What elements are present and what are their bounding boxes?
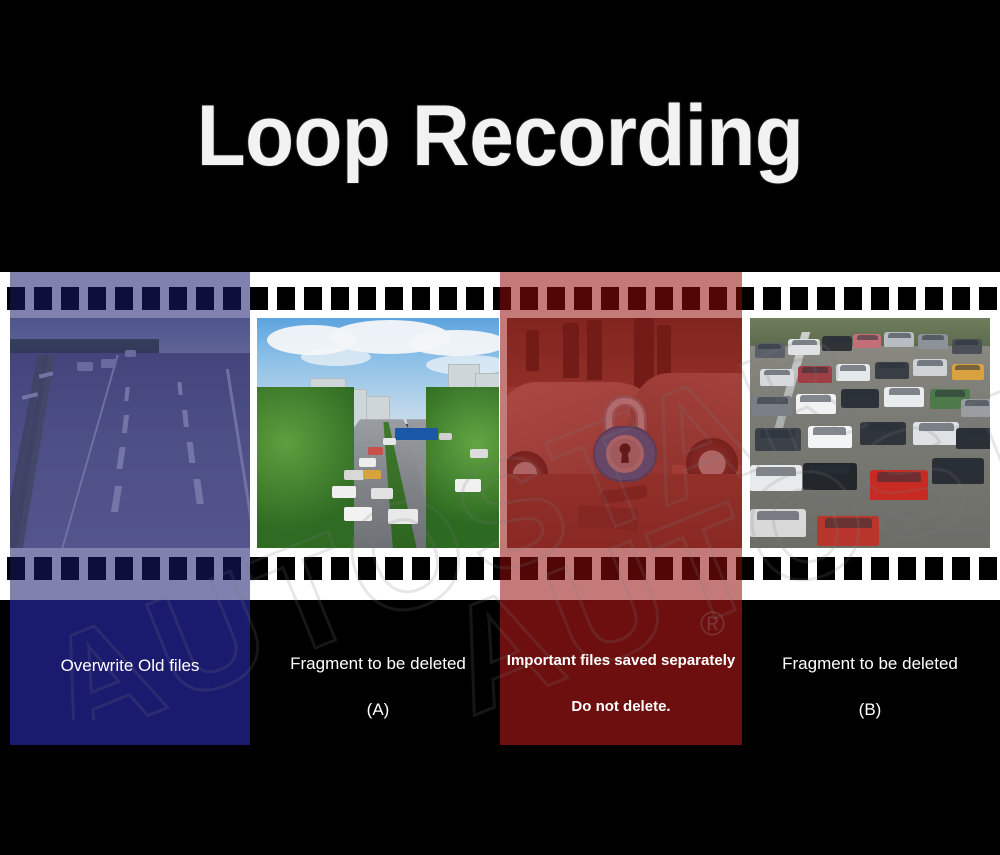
perforation — [466, 557, 484, 580]
car — [344, 470, 364, 480]
frame-city-highway — [257, 318, 499, 548]
page-title: Loop Recording — [35, 88, 965, 184]
perforation — [358, 287, 376, 310]
perforation — [304, 557, 322, 580]
car-taxi — [750, 509, 806, 537]
car — [750, 465, 802, 491]
caption-important: Important files saved separately Do not … — [500, 650, 742, 718]
car — [913, 359, 947, 376]
car — [952, 364, 984, 380]
caption-line-2: (A) — [257, 699, 499, 721]
perforation — [439, 557, 457, 580]
perforation — [466, 287, 484, 310]
perforation — [979, 287, 997, 310]
caption-fragment-a: Fragment to be deleted (A) — [257, 653, 499, 721]
perforation — [412, 557, 430, 580]
perforation — [277, 287, 295, 310]
frame-traffic-jam — [750, 318, 990, 548]
car — [755, 428, 801, 451]
perforation — [844, 287, 862, 310]
car — [752, 396, 792, 416]
perforation — [358, 557, 376, 580]
perforation — [763, 557, 781, 580]
perforation — [277, 557, 295, 580]
perforation — [250, 557, 268, 580]
perforation — [817, 557, 835, 580]
car-red — [870, 470, 928, 500]
car — [803, 463, 857, 490]
caption-fragment-b: Fragment to be deleted (B) — [750, 653, 990, 721]
caption-line-2: Do not delete. — [500, 696, 742, 718]
perforation — [331, 287, 349, 310]
car — [755, 343, 785, 358]
car — [388, 509, 418, 524]
perforation — [898, 557, 916, 580]
perforation — [790, 287, 808, 310]
caption-line-1: Overwrite Old files — [10, 655, 250, 677]
car — [836, 364, 870, 381]
car — [817, 516, 879, 546]
perforation — [817, 287, 835, 310]
perforation — [952, 557, 970, 580]
perforation — [979, 557, 997, 580]
car — [359, 458, 376, 467]
car — [853, 334, 881, 348]
caption-line-2: (B) — [750, 699, 990, 721]
car — [332, 486, 356, 498]
perforation — [871, 557, 889, 580]
cloud — [407, 330, 499, 356]
car — [808, 426, 852, 448]
perforation — [898, 287, 916, 310]
caption-overwrite: Overwrite Old files — [10, 655, 250, 677]
trees-right — [426, 387, 499, 548]
car — [841, 389, 879, 408]
perforation — [250, 287, 268, 310]
car — [383, 438, 396, 445]
perforation — [925, 557, 943, 580]
car — [918, 334, 948, 349]
car — [788, 339, 820, 355]
car — [470, 449, 488, 458]
car — [875, 362, 909, 379]
car — [860, 422, 906, 445]
perforation — [331, 557, 349, 580]
perforation — [412, 287, 430, 310]
car — [913, 422, 959, 445]
car — [884, 332, 914, 347]
car — [822, 336, 852, 351]
car — [884, 387, 924, 407]
perforation — [439, 287, 457, 310]
car — [363, 470, 381, 479]
car — [798, 366, 832, 383]
car — [760, 369, 794, 386]
car — [956, 428, 990, 449]
slide-root: Loop Recording — [0, 0, 1000, 855]
perforation — [925, 287, 943, 310]
perforation — [952, 287, 970, 310]
perforation — [304, 287, 322, 310]
caption-line-1: Fragment to be deleted — [750, 653, 990, 675]
trees-left — [257, 387, 354, 548]
car — [952, 339, 982, 354]
perforation — [385, 287, 403, 310]
car — [371, 488, 393, 499]
car — [368, 447, 383, 455]
car — [344, 507, 372, 521]
perforation — [844, 557, 862, 580]
perforation — [385, 557, 403, 580]
car — [796, 394, 836, 414]
car — [932, 458, 984, 484]
caption-line-1: Important files saved separately — [500, 650, 742, 672]
car — [961, 399, 990, 417]
caption-line-1: Fragment to be deleted — [257, 653, 499, 675]
perforation — [790, 557, 808, 580]
cloud — [301, 348, 371, 366]
car — [439, 433, 452, 440]
perforation — [871, 287, 889, 310]
overhead-road-sign — [395, 428, 439, 440]
car — [455, 479, 481, 492]
perforation — [763, 287, 781, 310]
